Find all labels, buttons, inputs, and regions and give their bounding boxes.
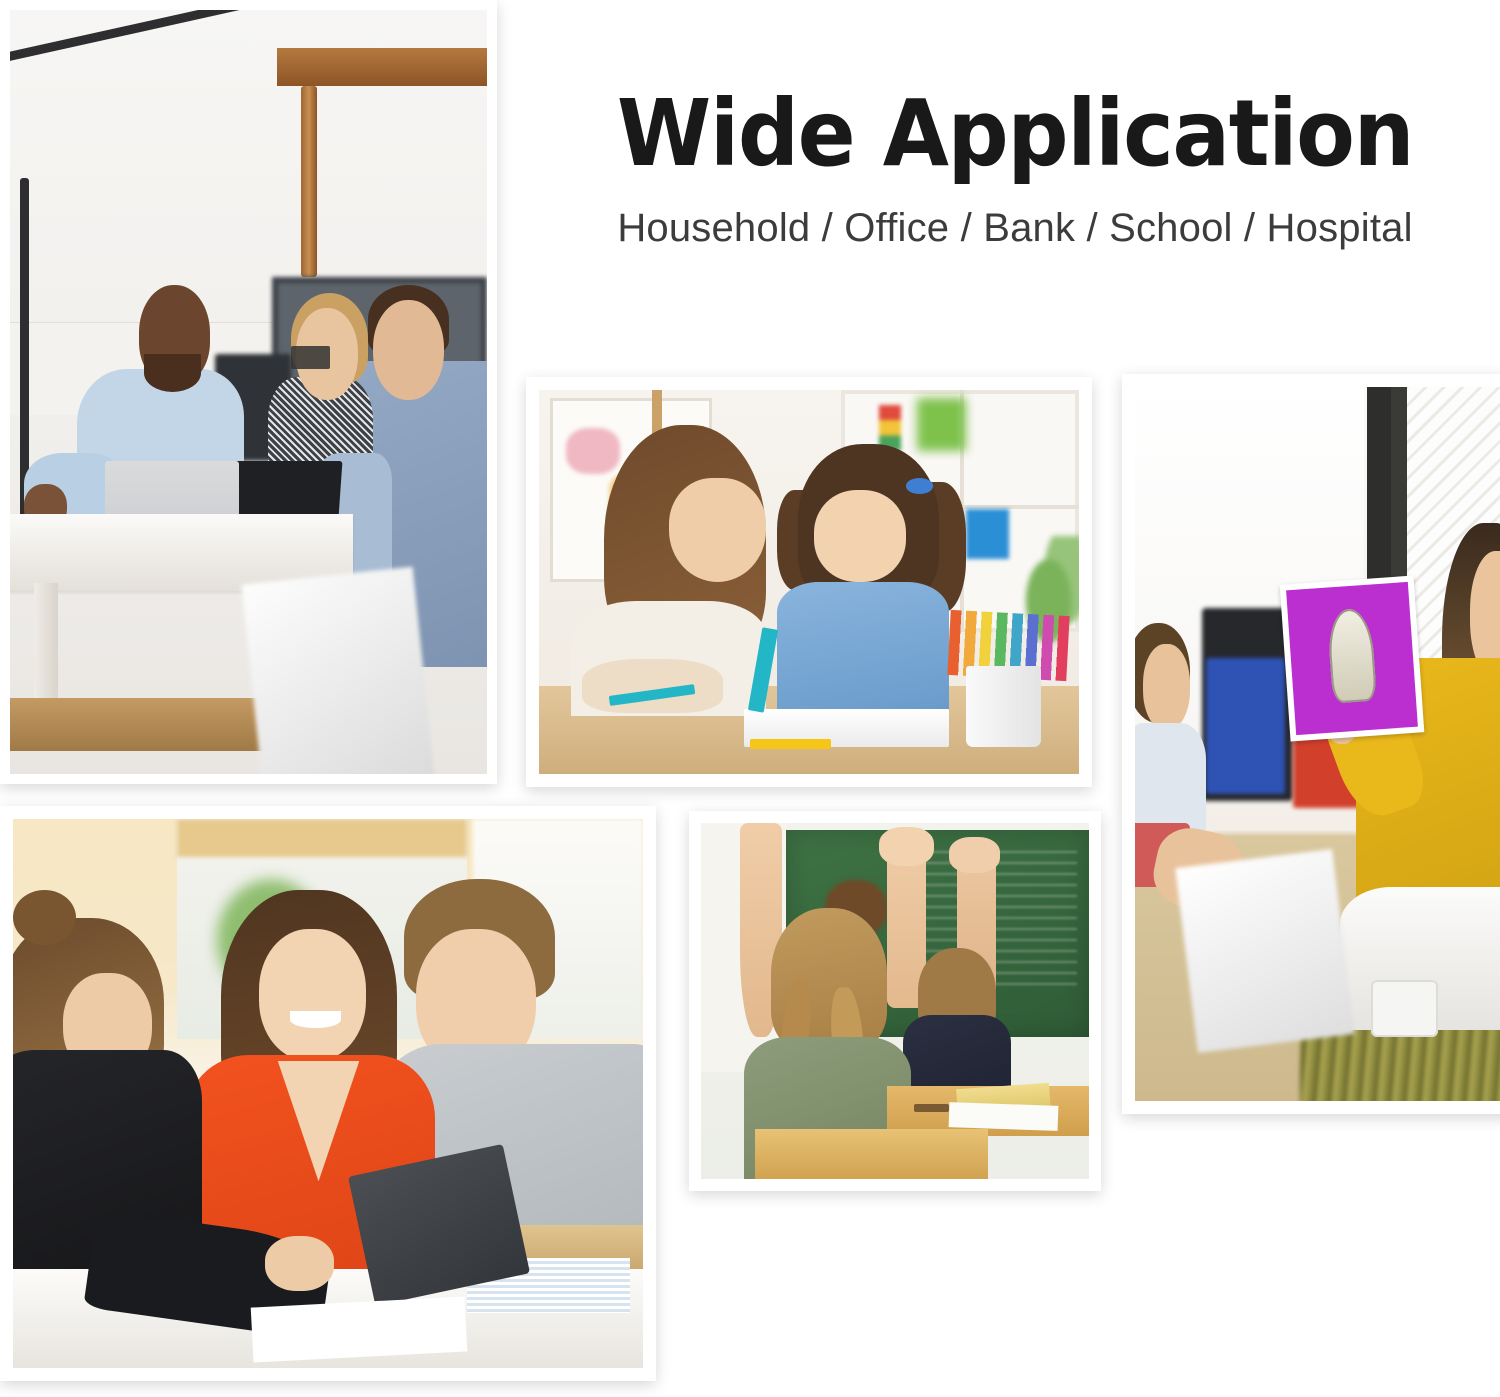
- page-title: Wide Application: [592, 88, 1438, 180]
- photo-bank-consultation-image: [13, 819, 643, 1368]
- photo-flashcard-session-image: [1135, 387, 1500, 1101]
- photo-tutor-and-child: [526, 377, 1092, 787]
- photo-flashcard-session: [1122, 374, 1500, 1114]
- photo-classroom-hands-raised-image: [701, 823, 1089, 1179]
- page-subtitle: Household / Office / Bank / School / Hos…: [560, 206, 1470, 251]
- wide-application-banner: Wide Application Household / Office / Ba…: [0, 0, 1500, 1397]
- heading-block: Wide Application Household / Office / Ba…: [560, 88, 1470, 251]
- photo-bank-consultation: [0, 806, 656, 1381]
- photo-classroom-hands-raised: [689, 811, 1101, 1191]
- purple-picture-card: [1279, 575, 1424, 741]
- photo-tutor-and-child-image: [539, 390, 1079, 774]
- photo-office-meeting: [0, 0, 497, 784]
- photo-office-meeting-image: [10, 10, 487, 774]
